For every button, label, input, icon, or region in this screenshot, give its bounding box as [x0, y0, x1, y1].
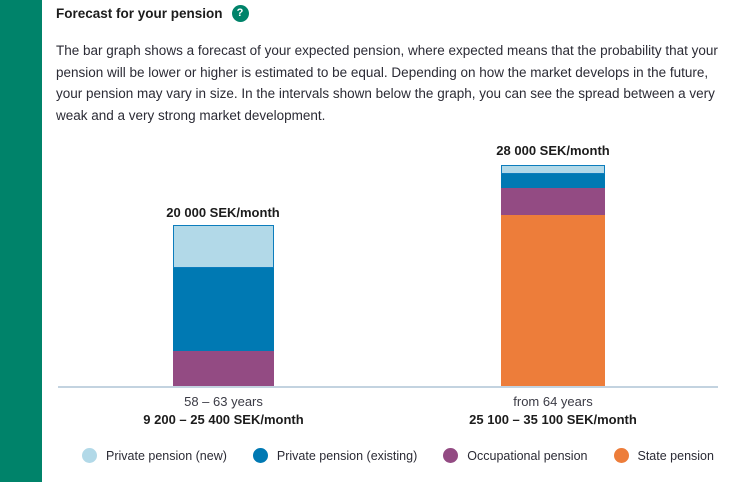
bar-segment[interactable] [501, 174, 605, 188]
pension-forecast-bar-chart: 20 000 SEK/month28 000 SEK/month 58 – 63… [0, 0, 693, 482]
x-axis-age-label: from 64 years [393, 393, 713, 411]
chart-legend: Private pension (new)Private pension (ex… [82, 448, 735, 463]
legend-item[interactable]: Occupational pension [443, 448, 587, 463]
bar-segment[interactable] [173, 351, 274, 386]
x-axis-label-group: 58 – 63 years9 200 – 25 400 SEK/month [64, 393, 384, 429]
legend-color-dot [443, 448, 458, 463]
legend-item[interactable]: State pension [614, 448, 714, 463]
forecast-pension-card: Forecast for your pension ? The bar grap… [0, 0, 735, 482]
bar-segment[interactable] [501, 165, 605, 174]
x-axis-range-label: 25 100 – 35 100 SEK/month [393, 411, 713, 429]
legend-color-dot [253, 448, 268, 463]
legend-item[interactable]: Private pension (new) [82, 448, 227, 463]
legend-item[interactable]: Private pension (existing) [253, 448, 417, 463]
legend-label: Private pension (existing) [277, 449, 417, 463]
x-axis-age-label: 58 – 63 years [64, 393, 384, 411]
legend-color-dot [82, 448, 97, 463]
bar-segment[interactable] [501, 215, 605, 386]
bar-total-label: 20 000 SEK/month [113, 205, 333, 220]
legend-label: Private pension (new) [106, 449, 227, 463]
bar-segment[interactable] [173, 268, 274, 351]
legend-label: State pension [638, 449, 714, 463]
x-axis-range-label: 9 200 – 25 400 SEK/month [64, 411, 384, 429]
bar-segment[interactable] [173, 225, 274, 268]
legend-color-dot [614, 448, 629, 463]
x-axis-line [58, 386, 718, 388]
legend-label: Occupational pension [467, 449, 587, 463]
bar-segment[interactable] [501, 188, 605, 215]
bar-column[interactable] [173, 225, 274, 386]
x-axis-label-group: from 64 years25 100 – 35 100 SEK/month [393, 393, 713, 429]
bar-total-label: 28 000 SEK/month [443, 143, 663, 158]
bar-column[interactable] [501, 165, 605, 386]
